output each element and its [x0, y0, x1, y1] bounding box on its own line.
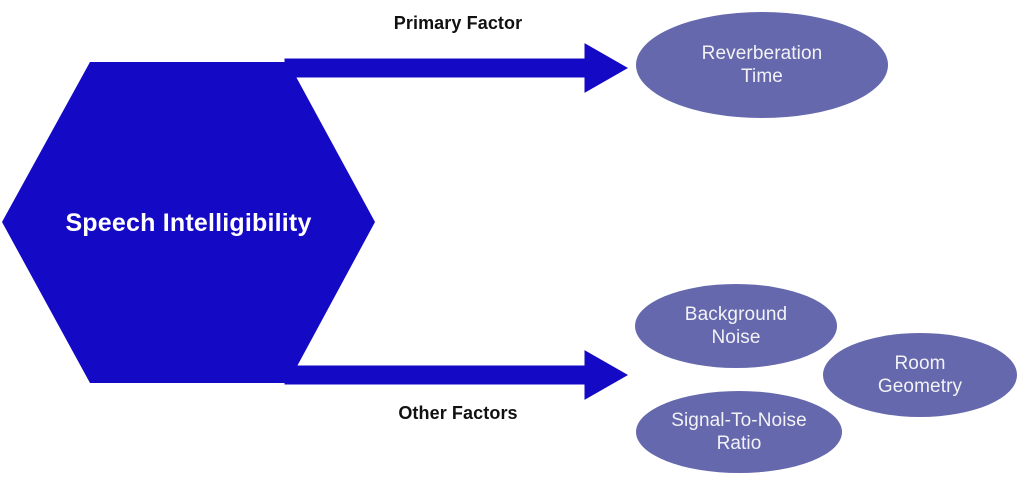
- primary-factor-arrow[interactable]: [285, 44, 627, 92]
- other-factors-arrow[interactable]: [285, 351, 627, 399]
- room-geometry-ellipse[interactable]: [823, 333, 1017, 417]
- diagram-graphics: [0, 0, 1024, 479]
- background-noise-ellipse[interactable]: [635, 284, 837, 368]
- diagram-canvas: Speech Intelligibility Primary Factor Ot…: [0, 0, 1024, 479]
- speech-intelligibility-hexagon[interactable]: [2, 62, 375, 383]
- reverberation-time-ellipse[interactable]: [636, 12, 888, 118]
- signal-to-noise-ratio-ellipse[interactable]: [636, 391, 842, 473]
